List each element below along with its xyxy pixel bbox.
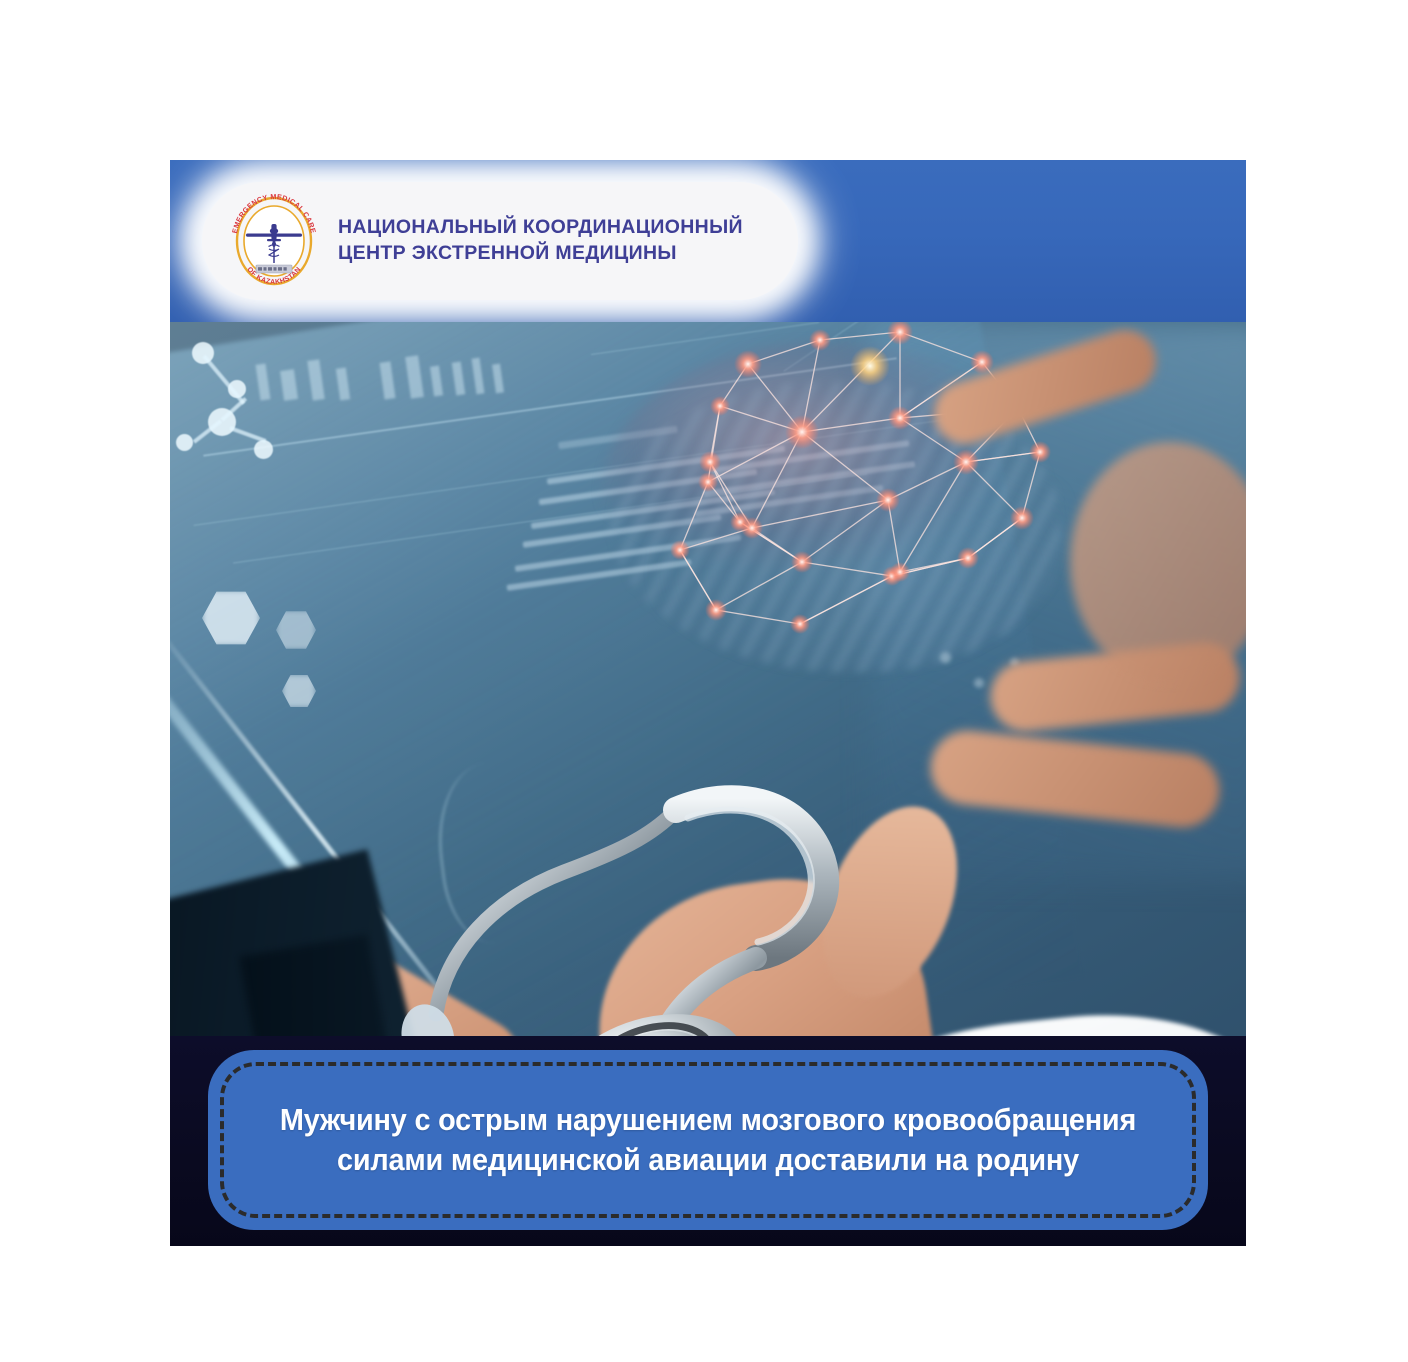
- news-card: EMERGENCY MEDICAL CARE OF KAZAKHSTAN: [170, 160, 1246, 1246]
- molecule-node: [254, 440, 273, 459]
- caption-area: Мужчину с острым нарушением мозгового кр…: [170, 1036, 1246, 1246]
- organization-name-line1: НАЦИОНАЛЬНЫЙ КООРДИНАЦИОННЫЙ: [338, 215, 743, 241]
- organization-name-line2: ЦЕНТР ЭКСТРЕННОЙ МЕДИЦИНЫ: [338, 241, 743, 267]
- logo-pill: EMERGENCY MEDICAL CARE OF KAZAKHSTAN: [202, 182, 798, 300]
- molecule-node: [176, 434, 193, 451]
- caption-text: Мужчину с острым нарушением мозгового кр…: [243, 1100, 1173, 1179]
- emergency-medical-aviation-emblem-icon: EMERGENCY MEDICAL CARE OF KAZAKHSTAN: [226, 193, 322, 289]
- caption-box: Мужчину с острым нарушением мозгового кр…: [208, 1050, 1208, 1230]
- organization-name: НАЦИОНАЛЬНЫЙ КООРДИНАЦИОННЫЙ ЦЕНТР ЭКСТР…: [338, 215, 743, 266]
- card-header: EMERGENCY MEDICAL CARE OF KAZAKHSTAN: [170, 160, 1246, 322]
